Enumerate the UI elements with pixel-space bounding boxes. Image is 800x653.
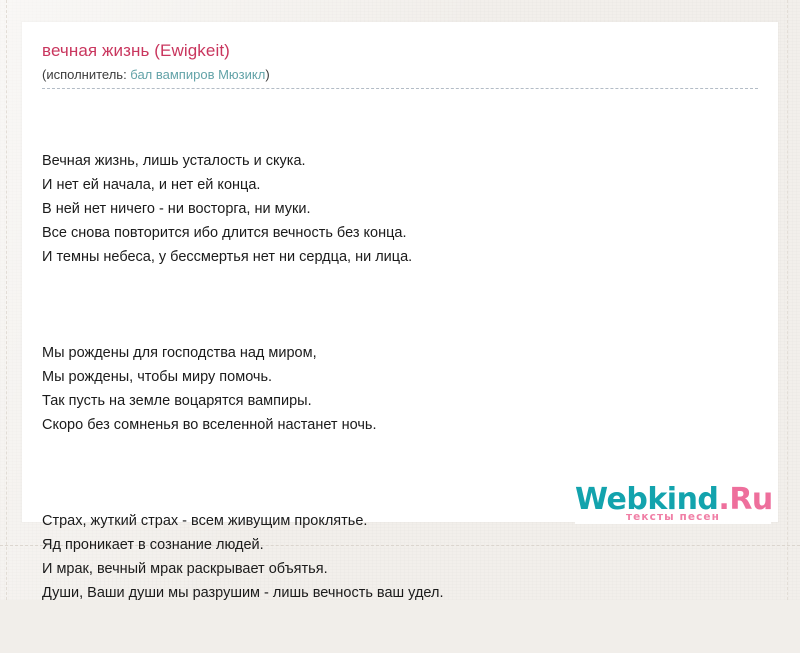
lyrics-stanza: Мы рождены для господства над миром, Мы …	[42, 341, 758, 437]
song-text-card: вечная жизнь (Ewigkeit) (исполнитель: ба…	[22, 22, 778, 522]
lyrics-stanza: Вечная жизнь, лишь усталость и скука. И …	[42, 149, 758, 269]
backdrop-guide-right	[787, 0, 788, 600]
backdrop-guide-left	[6, 0, 7, 600]
header-divider	[42, 88, 758, 89]
artist-credit-line: (исполнитель: бал вампиров Мюзикл)	[42, 66, 758, 84]
site-watermark-logo: Webkind.Ru тексты песен	[575, 484, 771, 524]
page-title: вечная жизнь (Ewigkeit)	[42, 40, 758, 62]
artist-prefix-label: (исполнитель:	[42, 67, 127, 82]
lyrics-body: Вечная жизнь, лишь усталость и скука. И …	[22, 89, 778, 653]
artist-link[interactable]: бал вампиров Мюзикл	[127, 67, 266, 82]
song-header: вечная жизнь (Ewigkeit) (исполнитель: ба…	[22, 22, 778, 84]
watermark-brand-tld: .Ru	[718, 484, 771, 517]
artist-suffix-label: )	[265, 67, 269, 82]
